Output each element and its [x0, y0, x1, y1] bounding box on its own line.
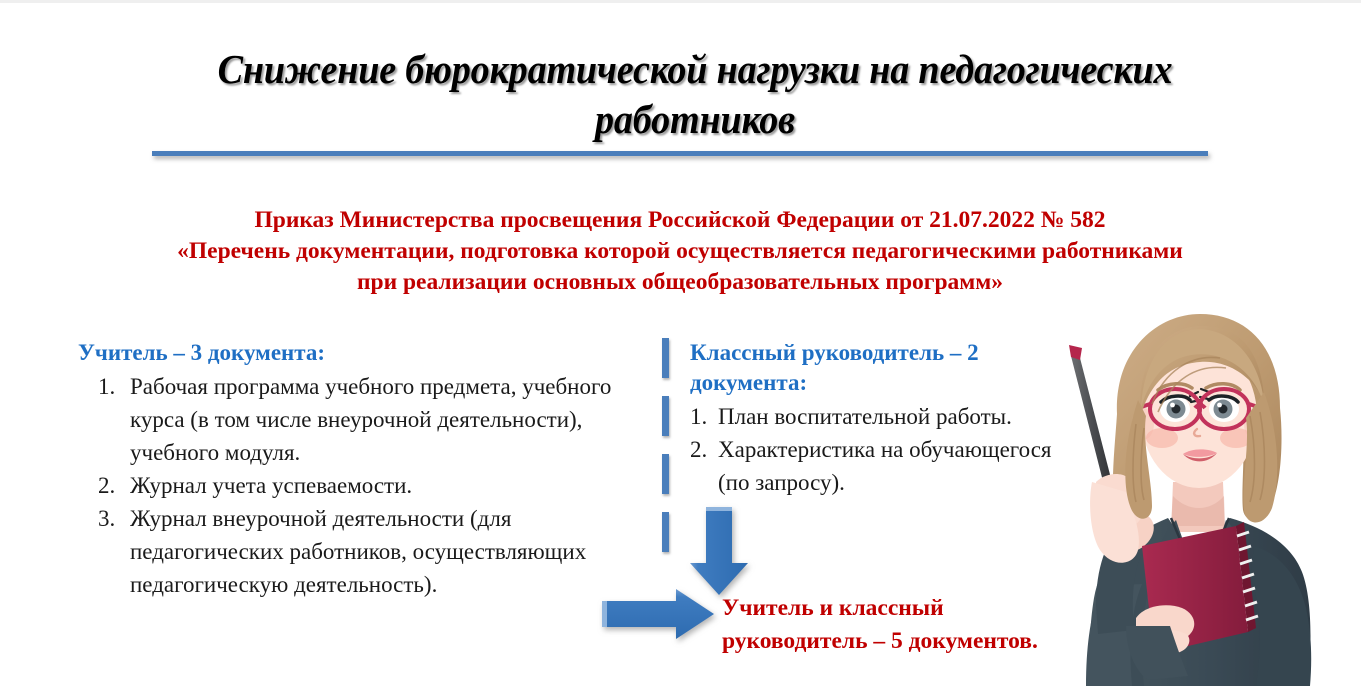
teacher-document-list: 1. Рабочая программа учебного предмета, … [78, 370, 638, 601]
teacher-column-heading: Учитель – 3 документа: [78, 338, 638, 368]
list-item-text: Характеристика на обучающегося (по запро… [718, 437, 1052, 495]
top-edge-strip [0, 0, 1361, 3]
list-item-number: 2. [98, 469, 126, 502]
homeroom-document-list: 1. План воспитательной работы. 2. Характ… [690, 400, 1060, 499]
slide-title-text: Снижение бюрократической нагрузки на пед… [188, 44, 1202, 144]
arrow-right-icon [600, 588, 716, 640]
list-item-text: Журнал учета успеваемости. [130, 473, 412, 498]
order-line-1: Приказ Министерства просвещения Российск… [80, 205, 1280, 236]
order-line-3: при реализации основных общеобразователь… [80, 267, 1280, 298]
dash-segment [662, 338, 669, 378]
list-item-text: План воспитательной работы. [718, 404, 1012, 429]
slide-title: Снижение бюрократической нагрузки на пед… [150, 44, 1240, 144]
list-item: 2. Характеристика на обучающегося (по за… [690, 433, 1060, 499]
teacher-column: Учитель – 3 документа: 1. Рабочая програ… [78, 338, 638, 601]
list-item-text: Рабочая программа учебного предмета, уче… [130, 374, 611, 465]
dash-segment [662, 454, 669, 494]
list-item-number: 3. [98, 502, 126, 535]
title-underline-rule [152, 151, 1208, 156]
teacher-with-pointer-illustration [1040, 296, 1361, 686]
homeroom-column: Классный руководитель – 2 документа: 1. … [690, 338, 1060, 499]
dash-segment [662, 396, 669, 436]
slide-canvas: Снижение бюрократической нагрузки на пед… [0, 0, 1361, 686]
list-item-number: 1. [690, 400, 707, 433]
list-item-number: 1. [98, 370, 126, 403]
arrow-down-icon [688, 505, 750, 597]
dash-segment [662, 512, 669, 552]
list-item-number: 2. [690, 433, 707, 466]
list-item: 1. Рабочая программа учебного предмета, … [78, 370, 638, 469]
list-item-text: Журнал внеурочной деятельности (для педа… [130, 506, 586, 597]
list-item: 3. Журнал внеурочной деятельности (для п… [78, 502, 638, 601]
list-item: 2. Журнал учета успеваемости. [78, 469, 638, 502]
order-reference: Приказ Министерства просвещения Российск… [80, 205, 1280, 298]
homeroom-column-heading: Классный руководитель – 2 документа: [690, 338, 1060, 398]
dashed-line-icon [662, 338, 669, 570]
list-item: 1. План воспитательной работы. [690, 400, 1060, 433]
order-line-2: «Перечень документации, подготовка котор… [80, 236, 1280, 267]
